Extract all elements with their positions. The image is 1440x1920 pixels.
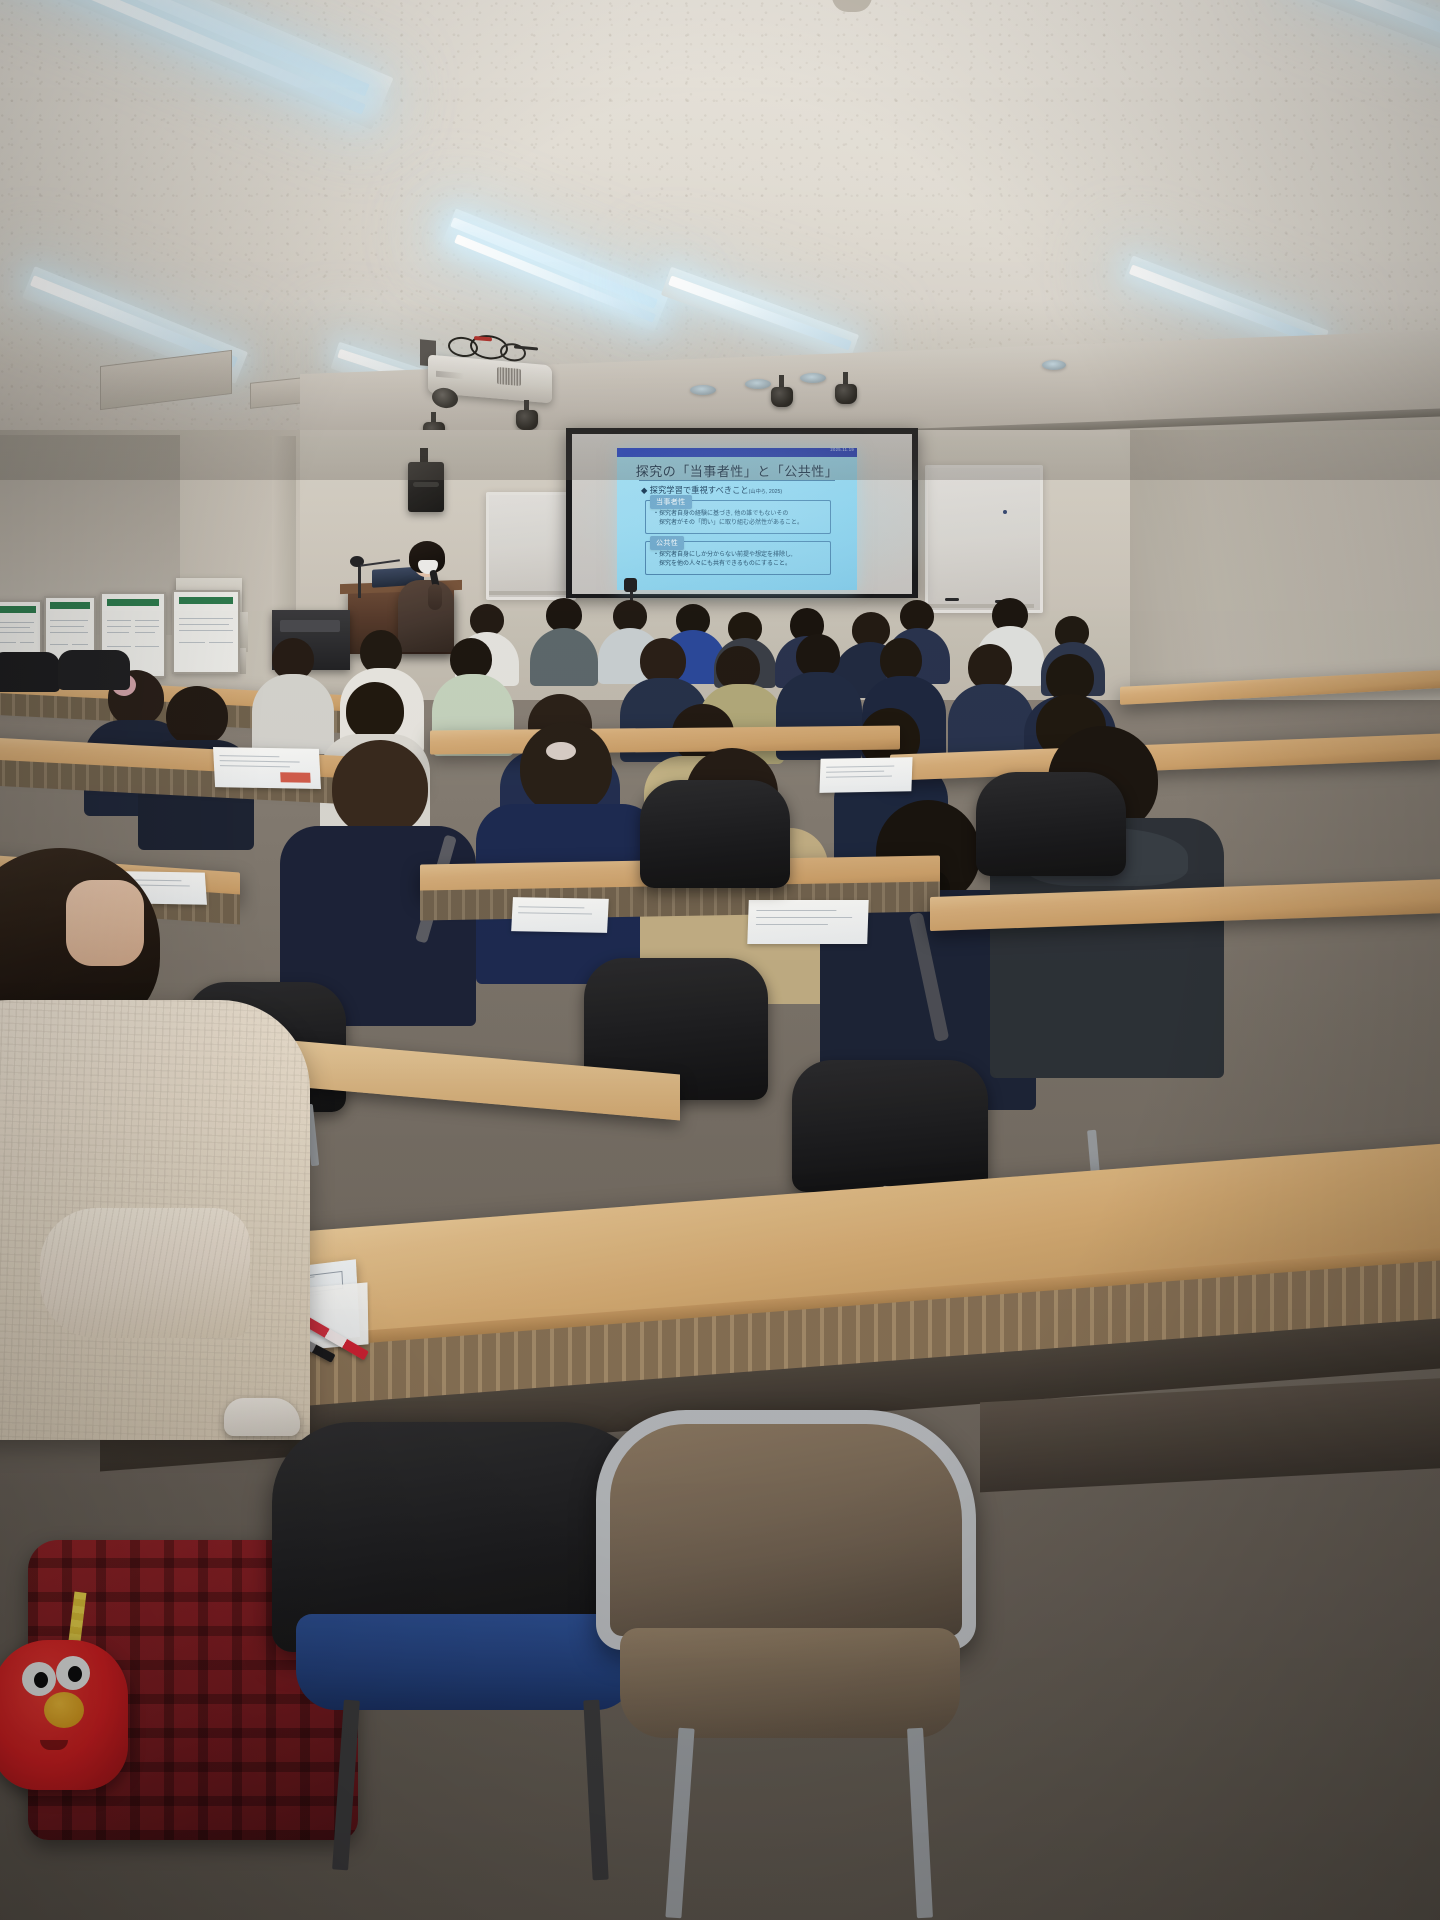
lecture-hall-photo: 2025.11.19 探究の「当事者性」と「公共性」 ◆ 探究学習で重視すべきこ…	[0, 0, 1440, 1920]
foreground-chair-right-frame	[596, 1410, 976, 1650]
chair	[58, 650, 130, 690]
handout-paper	[747, 900, 868, 944]
chair	[0, 652, 60, 692]
whiteboard-left	[486, 492, 576, 600]
chair	[792, 1060, 988, 1192]
foreground-sleeve-knit-texture	[40, 1208, 250, 1338]
attendee-head	[332, 740, 428, 836]
handout-paper	[511, 897, 609, 933]
slide-bullet-text: ◆ 探究学習で重視すべきこと	[641, 485, 749, 495]
slide-block-1-tag: 当事者性	[650, 495, 692, 509]
elmo-plush-pupil-left	[34, 1672, 48, 1688]
foreground-chair-left-seat	[296, 1614, 636, 1710]
attendee-hair-tie	[546, 742, 576, 760]
slide-block-2-tag: 公共性	[650, 536, 684, 550]
attendee-head	[520, 722, 612, 814]
chair	[976, 772, 1126, 876]
slide-block-2-body-line2: 探究を他の人々にも共有できるものにすること。	[653, 560, 829, 569]
slide-bullet-citation: (山中ら, 2025)	[749, 489, 782, 495]
slide-block-2-body-line1: ・探究者自身にしか分からない前提や想定を排除し,	[653, 551, 829, 560]
foreground-attendee-hand	[66, 880, 144, 966]
elmo-plush-pupil-right	[68, 1666, 82, 1682]
chair	[640, 780, 790, 888]
attendee-shoe	[224, 1398, 300, 1436]
slide-block-1-body-line2: 探究者がその「問い」に取り組む必然性があること。	[653, 519, 829, 528]
whiteboard-magnet-icon	[1003, 510, 1007, 514]
attendee-head	[166, 686, 228, 746]
ceiling-shade	[0, 300, 1440, 480]
attendee-head	[346, 682, 404, 740]
slide-block-1-body-line1: ・探究者自身の経験に基づき, 他の誰でもないその	[653, 510, 829, 519]
elmo-plush-nose	[44, 1692, 84, 1728]
slide-title-rule	[639, 480, 835, 481]
foreground-chair-right-seat	[620, 1628, 960, 1738]
